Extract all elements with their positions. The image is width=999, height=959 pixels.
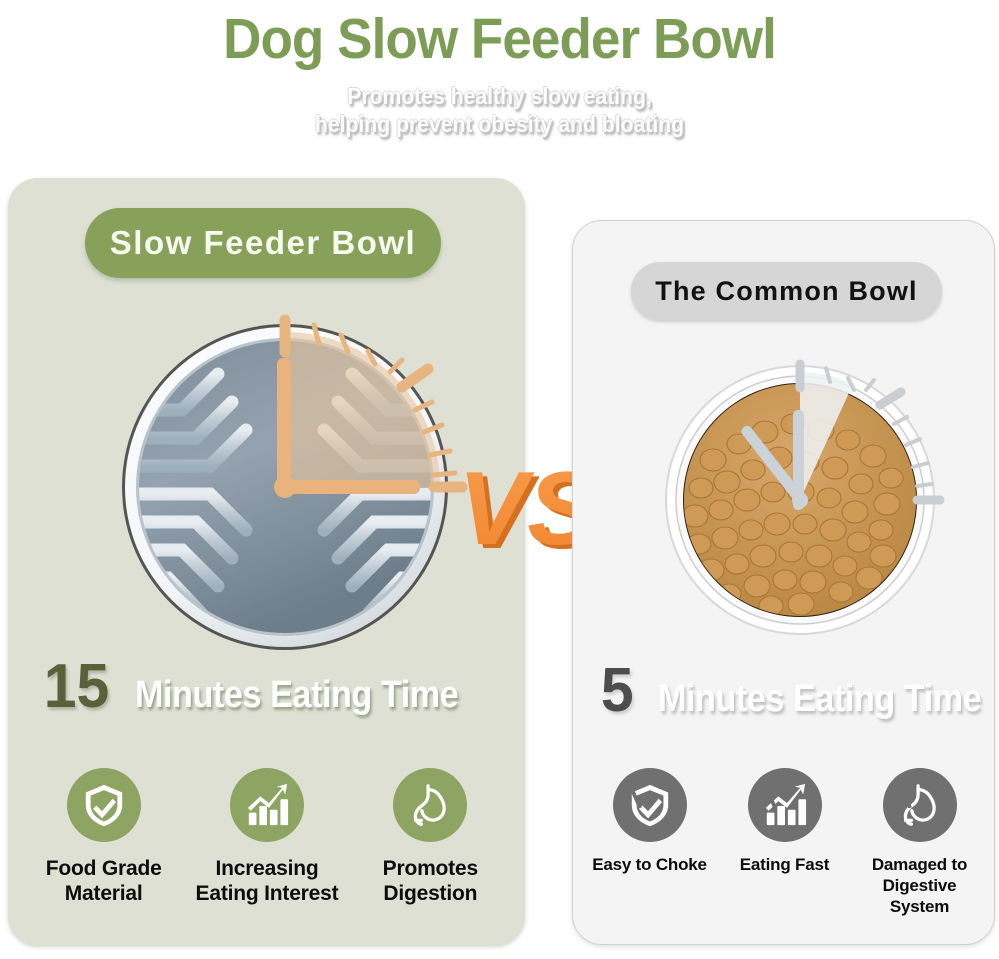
feature-label-line-1: Easy to Choke xyxy=(592,855,707,874)
shield-check-icon xyxy=(67,768,141,842)
feature-label: Eating Fast xyxy=(740,854,829,875)
feature-increasing-eating-interest: Increasing Eating Interest xyxy=(192,768,342,906)
stomach-icon xyxy=(393,768,467,842)
slow-feeder-features: Food Grade Material Increasing Eating In… xyxy=(22,768,512,906)
feature-label-line-2: Eating Interest xyxy=(196,882,339,905)
common-bowl-badge: The Common Bowl xyxy=(631,262,942,320)
feature-eating-fast: Eating Fast xyxy=(721,768,849,917)
feature-label-line-1: Damaged to xyxy=(872,855,967,874)
common-bowl-time-number: 5 xyxy=(601,660,634,722)
slow-feeder-bowl-image xyxy=(110,312,460,662)
feature-easy-to-choke: Easy to Choke xyxy=(586,768,714,917)
feature-label-line-1: Eating Fast xyxy=(740,855,829,874)
slow-feeder-badge-label: Slow Feeder Bowl xyxy=(110,224,416,262)
common-bowl-with-kibble-image xyxy=(655,352,945,642)
slow-feeder-time-number: 15 xyxy=(44,656,110,718)
feature-label: Damaged to Digestive System xyxy=(856,854,984,917)
infographic-root: Dog Slow Feeder Bowl Promotes healthy sl… xyxy=(0,0,999,959)
feature-label: Promotes Digestion xyxy=(383,856,478,906)
feature-food-grade-material: Food Grade Material xyxy=(29,768,179,906)
subtitle-line-2: helping prevent obesity and bloating xyxy=(40,110,959,138)
feature-promotes-digestion: Promotes Digestion xyxy=(355,768,505,906)
feature-label: Easy to Choke xyxy=(592,854,707,875)
stomach-slashed-icon xyxy=(883,768,957,842)
common-bowl-eating-time: 5 Minutes Eating Time xyxy=(600,660,999,722)
feature-damaged-digestive-system: Damaged to Digestive System xyxy=(856,768,984,917)
feature-label-line-2: Material xyxy=(65,882,143,905)
common-bowl-time-label: Minutes Eating Time xyxy=(658,678,981,720)
feature-label-line-2: Digestion xyxy=(383,882,477,905)
slow-feeder-eating-time: 15 Minutes Eating Time xyxy=(42,656,476,718)
feature-label-line-1: Promotes xyxy=(383,857,478,880)
subtitle-line-1: Promotes healthy slow eating, xyxy=(40,82,959,110)
bar-chart-up-icon xyxy=(230,768,304,842)
slow-feeder-badge: Slow Feeder Bowl xyxy=(85,208,441,278)
page-title: Dog Slow Feeder Bowl xyxy=(35,6,964,72)
common-bowl-features: Easy to Choke Eating Fast xyxy=(582,768,987,917)
slow-feeder-time-label: Minutes Eating Time xyxy=(135,674,458,716)
feature-label: Food Grade Material xyxy=(46,856,162,906)
bar-chart-up-slashed-icon xyxy=(748,768,822,842)
page-subtitle: Promotes healthy slow eating, helping pr… xyxy=(40,82,959,138)
feature-label-line-1: Food Grade xyxy=(46,857,162,880)
feature-label-line-1: Increasing xyxy=(215,857,318,880)
common-bowl-badge-label: The Common Bowl xyxy=(655,276,918,307)
shield-check-slashed-icon xyxy=(613,768,687,842)
feature-label-line-2: Digestive System xyxy=(883,876,957,916)
feature-label: Increasing Eating Interest xyxy=(196,856,339,906)
